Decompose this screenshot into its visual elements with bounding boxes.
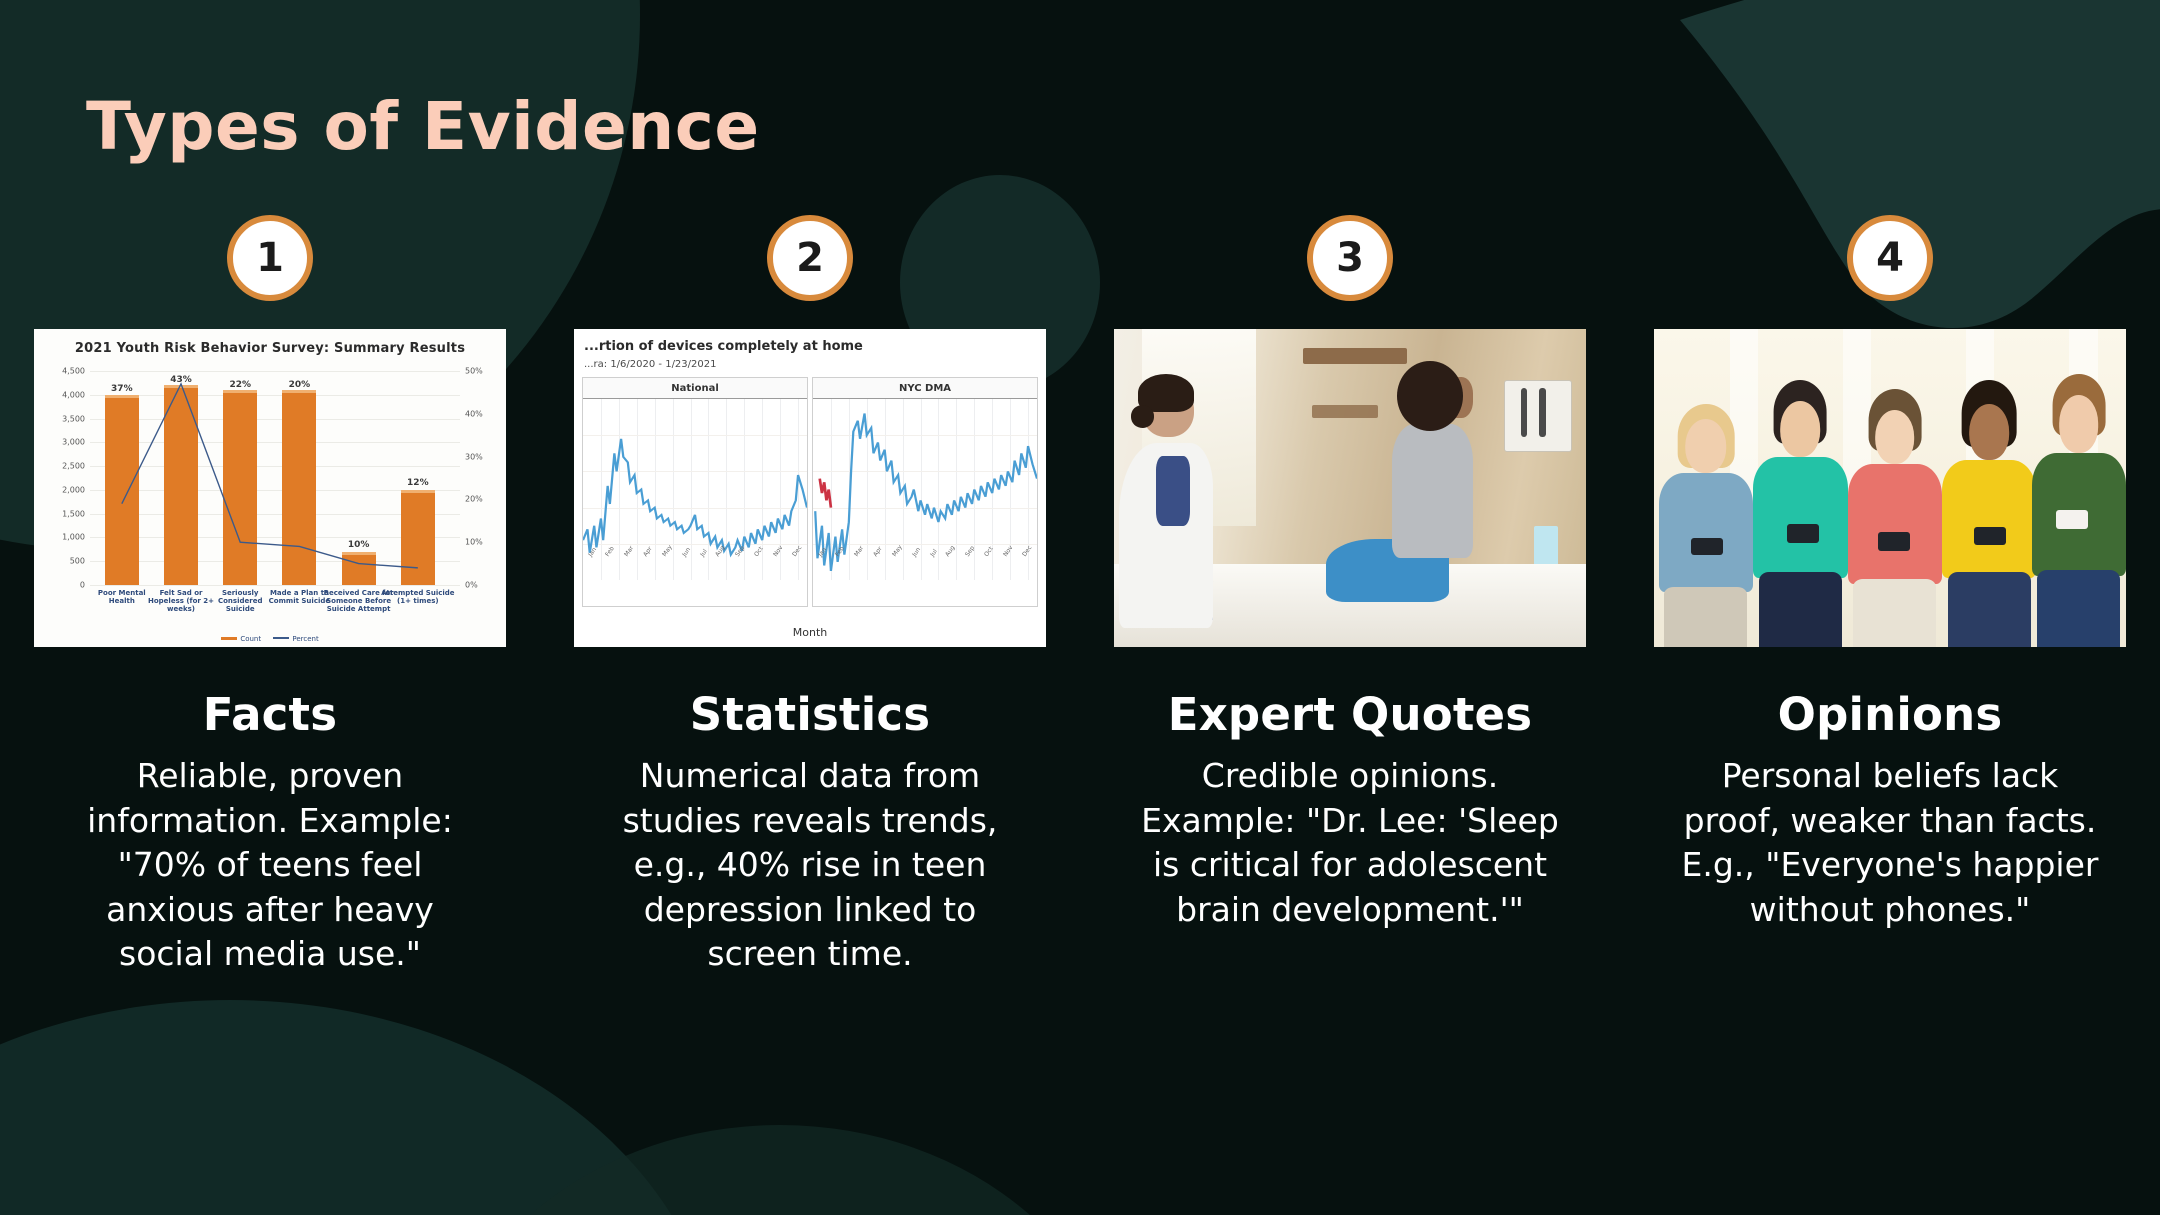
bar-chart-ytick2: 40%	[465, 409, 483, 418]
legend-label-count: Count	[240, 635, 261, 643]
photo-doctor-scrubs	[1156, 456, 1189, 526]
timeseries-chart-title: ...rtion of devices completely at home	[584, 339, 863, 354]
bar-chart-plot: 4,500 4,000 3,500 3,000 2,500 2,000 1,50…	[90, 371, 460, 585]
bar-chart-ytick2: 50%	[465, 367, 483, 376]
bar-chart-title: 2021 Youth Risk Behavior Survey: Summary…	[34, 341, 506, 356]
card-heading-statistics: Statistics	[690, 691, 930, 738]
bar-chart-ytick: 2,500	[62, 462, 85, 471]
photo-patient-hair	[1397, 361, 1463, 431]
bar-chart-ytick: 2,000	[62, 485, 85, 494]
timeseries-xaxis-label: Month	[574, 626, 1046, 639]
panel-plot-nyc: Jan Feb Mar Apr May Jun Jul Aug Sep Oc	[813, 399, 1037, 580]
timeseries-panel-national: National	[582, 377, 808, 607]
bar-chart-ytick: 3,500	[62, 414, 85, 423]
bar-xtick: Attempted Suicide (1+ times)	[381, 589, 455, 605]
photo-shelf-lower	[1312, 405, 1378, 418]
card-body-opinions: Personal beliefs lack proof, weaker than…	[1680, 754, 2100, 932]
legend-label-percent: Percent	[292, 635, 318, 643]
bar-chart-ytick2: 30%	[465, 452, 483, 461]
timeseries-panel-nyc: NYC DMA	[812, 377, 1038, 607]
bar-chart: 2021 Youth Risk Behavior Survey: Summary…	[34, 329, 506, 647]
panel-label-nyc: NYC DMA	[813, 378, 1037, 399]
panel-xticks-nyc: Jan Feb Mar Apr May Jun Jul Aug Sep Oc	[813, 554, 1037, 578]
step-badge-2: 2	[767, 215, 853, 301]
card-body-statistics: Numerical data from studies reveals tren…	[600, 754, 1020, 977]
bar-chart-ytick: 4,500	[62, 367, 85, 376]
step-badge-4: 4	[1847, 215, 1933, 301]
card-image-statistics-chart: ...rtion of devices completely at home .…	[574, 329, 1046, 647]
panel-xticks-national: Jan Feb Mar Apr May Jun Jul Aug Sep Oc	[583, 554, 807, 578]
bar-chart-ytick2: 0%	[465, 581, 478, 590]
slide-root: Types of Evidence 1 2021 Youth Risk Beha…	[0, 0, 2160, 1215]
bar-chart-ytick: 4,000	[62, 390, 85, 399]
photo-teen-5	[2032, 374, 2126, 647]
bar-chart-ytick: 500	[70, 557, 85, 566]
clinic-photo	[1114, 329, 1586, 647]
evidence-card-expert-quotes: 3	[1080, 215, 1620, 932]
photo-teen-3	[1848, 386, 1942, 647]
card-body-facts: Reliable, proven information. Example: "…	[60, 754, 480, 977]
evidence-card-facts: 1 2021 Youth Risk Behavior Survey: Summa…	[0, 215, 540, 977]
bar-chart-ytick: 3,000	[62, 438, 85, 447]
background-blob-bottom-left	[0, 1000, 720, 1215]
photo-teen-4	[1942, 380, 2036, 647]
card-heading-expert-quotes: Expert Quotes	[1168, 691, 1533, 738]
bar-chart-ytick: 1,500	[62, 509, 85, 518]
bar-chart-ytick2: 10%	[465, 538, 483, 547]
evidence-card-opinions: 4	[1620, 215, 2160, 932]
card-image-expert-quotes-photo	[1114, 329, 1586, 647]
step-badge-1: 1	[227, 215, 313, 301]
photo-teen-2	[1753, 380, 1847, 647]
trend-line	[90, 371, 460, 585]
evidence-card-statistics: 2 ...rtion of devices completely at home…	[540, 215, 1080, 977]
bar-chart-legend: Count Percent	[34, 635, 506, 643]
panel-plot-national: Jan Feb Mar Apr May Jun Jul Aug Sep Oc	[583, 399, 807, 580]
card-heading-opinions: Opinions	[1778, 691, 2003, 738]
bar-chart-ytick2: 20%	[465, 495, 483, 504]
step-badge-3: 3	[1307, 215, 1393, 301]
bar-chart-ytick: 1,000	[62, 533, 85, 542]
card-body-expert-quotes: Credible opinions. Example: "Dr. Lee: 'S…	[1140, 754, 1560, 932]
evidence-columns: 1 2021 Youth Risk Behavior Survey: Summa…	[0, 215, 2160, 977]
timeseries-chart: ...rtion of devices completely at home .…	[574, 329, 1046, 647]
photo-shelf	[1303, 348, 1407, 364]
photo-patient-body	[1392, 424, 1472, 558]
teens-photo	[1654, 329, 2126, 647]
card-heading-facts: Facts	[203, 691, 337, 738]
photo-wall-instrument	[1504, 380, 1572, 452]
card-image-facts-chart: 2021 Youth Risk Behavior Survey: Summary…	[34, 329, 506, 647]
background-blob-bottom-center	[430, 1125, 1130, 1215]
panel-label-national: National	[583, 378, 807, 399]
timeseries-panels: National	[582, 377, 1038, 607]
timeseries-chart-subtitle: ...ra: 1/6/2020 - 1/23/2021	[584, 359, 716, 370]
photo-doctor-hair-bun	[1131, 405, 1155, 427]
page-title: Types of Evidence	[86, 88, 760, 165]
card-image-opinions-photo	[1654, 329, 2126, 647]
photo-teen-1	[1659, 399, 1753, 647]
